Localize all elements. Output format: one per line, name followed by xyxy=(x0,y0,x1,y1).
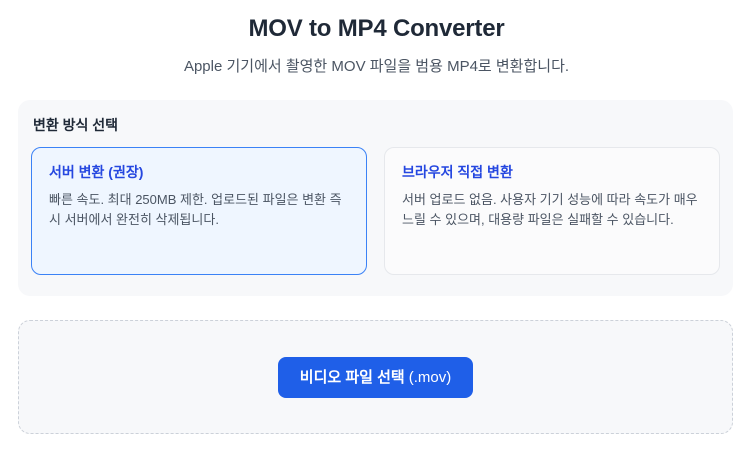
converter-page: MOV to MP4 Converter Apple 기기에서 촬영한 MOV … xyxy=(0,0,753,453)
select-file-button-label: 비디오 파일 선택 xyxy=(300,369,405,386)
mode-option-server-conversion[interactable]: 서버 변환 (권장) 빠른 속도. 최대 250MB 제한. 업로드된 파일은 … xyxy=(31,147,367,275)
conversion-mode-options: 서버 변환 (권장) 빠른 속도. 최대 250MB 제한. 업로드된 파일은 … xyxy=(31,147,720,275)
select-video-file-button[interactable]: 비디오 파일 선택(.mov) xyxy=(278,357,473,398)
page-subtitle: Apple 기기에서 촬영한 MOV 파일을 범용 MP4로 변환합니다. xyxy=(0,44,753,77)
conversion-mode-panel: 변환 방식 선택 서버 변환 (권장) 빠른 속도. 최대 250MB 제한. … xyxy=(18,100,733,296)
page-title: MOV to MP4 Converter xyxy=(0,14,753,44)
mode-option-description: 서버 업로드 없음. 사용자 기기 성능에 따라 속도가 매우 느릴 수 있으며… xyxy=(402,190,702,230)
mode-option-title: 브라우저 직접 변환 xyxy=(402,163,702,181)
file-dropzone[interactable]: 비디오 파일 선택(.mov) xyxy=(18,320,733,434)
mode-option-description: 빠른 속도. 최대 250MB 제한. 업로드된 파일은 변환 즉시 서버에서 … xyxy=(49,190,349,230)
select-file-button-extension: (.mov) xyxy=(405,369,452,386)
page-header: MOV to MP4 Converter Apple 기기에서 촬영한 MOV … xyxy=(0,0,753,77)
conversion-mode-heading: 변환 방식 선택 xyxy=(33,116,720,134)
mode-option-title: 서버 변환 (권장) xyxy=(49,163,349,181)
mode-option-browser-conversion[interactable]: 브라우저 직접 변환 서버 업로드 없음. 사용자 기기 성능에 따라 속도가 … xyxy=(384,147,720,275)
